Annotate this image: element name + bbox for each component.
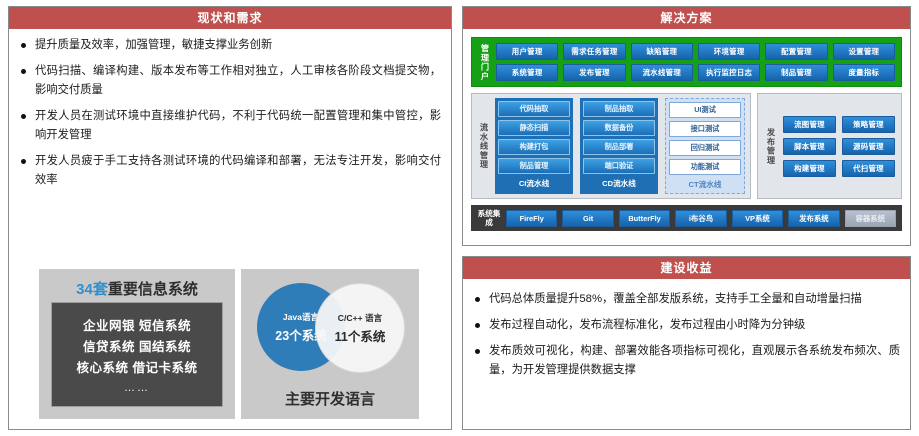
current-status-panel: 现状和需求 提升质量及效率，加强管理，敏捷支撑业务创新 代码扫描、编译构建、版本… <box>8 6 452 430</box>
current-status-title: 现状和需求 <box>9 7 451 30</box>
release-management-box: 发布管理 流图管理 策略管理 脚本管理 源码管理 构建管理 代扫管理 <box>757 93 902 199</box>
pipeline-columns: 代码抽取 静态扫描 构建打包 制品管理 CI流水线 制品抽取 数据备份 制品部署… <box>495 98 745 194</box>
solution-panel: 解决方案 管理门户 用户管理 需求任务管理 缺陷管理 环境管理 配置管理 设置管… <box>462 6 911 246</box>
solution-architecture-diagram: 管理门户 用户管理 需求任务管理 缺陷管理 环境管理 配置管理 设置管理 系统管… <box>463 30 910 238</box>
list-item: 发布质效可视化，构建、部署效能各项指标可视化，直观展示各系统发布频次、质量，为开… <box>473 342 900 380</box>
integration-chip[interactable]: VP系统 <box>732 210 783 227</box>
systems-count: 34套 <box>76 281 108 298</box>
pipeline-column-ci: 代码抽取 静态扫描 构建打包 制品管理 CI流水线 <box>495 98 573 194</box>
benefit-body: 代码总体质量提升58%，覆盖全部发版系统，支持手工全量和自动增量扫描 发布过程自… <box>463 280 910 391</box>
pipeline-column-name: CD流水线 <box>583 177 655 189</box>
venn-label-language: C/C++ 语言 <box>338 312 382 324</box>
systems-name-box: 企业网银 短信系统 信贷系统 国结系统 核心系统 借记卡系统 …… <box>51 302 223 407</box>
integration-chip[interactable]: Git <box>562 210 613 227</box>
system-integration-band: 系统集成 FireFly Git ButterFly i布谷鸟 VP系统 发布系… <box>471 205 902 231</box>
pipeline-step[interactable]: 功能测试 <box>669 159 741 175</box>
portal-chip[interactable]: 配置管理 <box>765 43 827 60</box>
pipeline-step[interactable]: 静态扫描 <box>498 120 570 136</box>
portal-chip[interactable]: 设置管理 <box>833 43 895 60</box>
release-management-grid: 流图管理 策略管理 脚本管理 源码管理 构建管理 代扫管理 <box>783 98 895 194</box>
pipeline-column-cd: 制品抽取 数据备份 制品部署 端口验证 CD流水线 <box>580 98 658 194</box>
portal-chip[interactable]: 系统管理 <box>496 64 558 81</box>
list-item: 开发人员在测试环境中直接维护代码，不利于代码统一配置管理和集中管控，影响开发管理 <box>19 107 441 145</box>
left-infographic: 34套重要信息系统 企业网银 短信系统 信贷系统 国结系统 核心系统 借记卡系统… <box>39 269 419 419</box>
pipeline-column-name: CI流水线 <box>498 177 570 189</box>
pipeline-step[interactable]: 制品管理 <box>498 158 570 174</box>
pipeline-column-ct: UI测试 接口测试 回归测试 功能测试 CT流水线 <box>665 98 745 194</box>
portal-chip[interactable]: 缺陷管理 <box>631 43 693 60</box>
pipeline-management-box: 流水线管理 代码抽取 静态扫描 构建打包 制品管理 CI流水线 制品抽取 数据备… <box>471 93 751 199</box>
pipeline-step[interactable]: UI测试 <box>669 102 741 118</box>
list-item: 发布过程自动化，发布流程标准化，发布过程由小时降为分钟级 <box>473 316 900 335</box>
integration-chip[interactable]: 发布系统 <box>788 210 839 227</box>
portal-chip[interactable]: 环境管理 <box>698 43 760 60</box>
release-chip[interactable]: 脚本管理 <box>783 138 836 155</box>
management-portal-band: 管理门户 用户管理 需求任务管理 缺陷管理 环境管理 配置管理 设置管理 系统管… <box>471 37 902 87</box>
release-chip[interactable]: 策略管理 <box>842 116 895 133</box>
pipeline-step[interactable]: 制品部署 <box>583 139 655 155</box>
dev-language-caption: 主要开发语言 <box>241 388 419 409</box>
pipeline-release-row: 流水线管理 代码抽取 静态扫描 构建打包 制品管理 CI流水线 制品抽取 数据备… <box>471 93 902 199</box>
portal-chip[interactable]: 发布管理 <box>563 64 625 81</box>
important-systems-card: 34套重要信息系统 企业网银 短信系统 信贷系统 国结系统 核心系统 借记卡系统… <box>39 269 235 419</box>
pipeline-step[interactable]: 制品抽取 <box>583 101 655 117</box>
benefit-panel: 建设收益 代码总体质量提升58%，覆盖全部发版系统，支持手工全量和自动增量扫描 … <box>462 256 911 430</box>
pipeline-step[interactable]: 回归测试 <box>669 140 741 156</box>
pipeline-management-label: 流水线管理 <box>477 98 490 194</box>
benefit-title: 建设收益 <box>463 257 910 280</box>
portal-chip[interactable]: 制品管理 <box>765 64 827 81</box>
integration-chip[interactable]: 容器系统 <box>845 210 896 227</box>
systems-row: 企业网银 短信系统 <box>83 315 191 334</box>
integration-chip[interactable]: i布谷鸟 <box>675 210 726 227</box>
pipeline-column-name: CT流水线 <box>669 178 741 190</box>
systems-row: 核心系统 借记卡系统 <box>77 357 198 376</box>
list-item: 提升质量及效率，加强管理，敏捷支撑业务创新 <box>19 36 441 55</box>
dev-language-card: Java语言 23个系统 C/C++ 语言 11个系统 主要开发语言 <box>241 269 419 419</box>
slide-canvas: 现状和需求 提升质量及效率，加强管理，敏捷支撑业务创新 代码扫描、编译构建、版本… <box>0 0 919 436</box>
venn-label-language: Java语言 <box>283 311 319 323</box>
release-chip[interactable]: 源码管理 <box>842 138 895 155</box>
benefit-bullet-list: 代码总体质量提升58%，覆盖全部发版系统，支持手工全量和自动增量扫描 发布过程自… <box>473 290 900 380</box>
management-portal-label: 管理门户 <box>478 43 491 81</box>
pipeline-step[interactable]: 接口测试 <box>669 121 741 137</box>
pipeline-step[interactable]: 端口验证 <box>583 158 655 174</box>
systems-row: 信贷系统 国结系统 <box>83 336 191 355</box>
management-portal-grid: 用户管理 需求任务管理 缺陷管理 环境管理 配置管理 设置管理 系统管理 发布管… <box>496 43 895 81</box>
portal-chip[interactable]: 流水线管理 <box>631 64 693 81</box>
current-status-bullet-list: 提升质量及效率，加强管理，敏捷支撑业务创新 代码扫描、编译构建、版本发布等工作相… <box>19 36 441 190</box>
release-chip[interactable]: 构建管理 <box>783 160 836 177</box>
portal-chip[interactable]: 度量指标 <box>833 64 895 81</box>
list-item: 开发人员疲于手工支持各测试环境的代码编译和部署，无法专注开发，影响交付效率 <box>19 152 441 190</box>
pipeline-step[interactable]: 数据备份 <box>583 120 655 136</box>
system-integration-chips: FireFly Git ButterFly i布谷鸟 VP系统 发布系统 容器系… <box>506 210 896 227</box>
system-integration-label: 系统集成 <box>477 209 501 227</box>
current-status-body: 提升质量及效率，加强管理，敏捷支撑业务创新 代码扫描、编译构建、版本发布等工作相… <box>9 30 451 201</box>
venn-label-count: 11个系统 <box>335 326 386 345</box>
pipeline-step[interactable]: 代码抽取 <box>498 101 570 117</box>
systems-ellipsis: …… <box>124 382 150 394</box>
list-item: 代码总体质量提升58%，覆盖全部发版系统，支持手工全量和自动增量扫描 <box>473 290 900 309</box>
important-systems-title: 34套重要信息系统 <box>39 278 235 299</box>
integration-chip[interactable]: ButterFly <box>619 210 670 227</box>
solution-title: 解决方案 <box>463 7 910 30</box>
systems-title-rest: 重要信息系统 <box>108 281 198 298</box>
list-item: 代码扫描、编译构建、版本发布等工作相对独立，人工审核各阶段文档提交物，影响交付质… <box>19 62 441 100</box>
release-management-label: 发布管理 <box>764 98 777 194</box>
portal-chip[interactable]: 执行监控日志 <box>698 64 760 81</box>
pipeline-step[interactable]: 构建打包 <box>498 139 570 155</box>
venn-diagram: Java语言 23个系统 C/C++ 语言 11个系统 <box>241 281 419 373</box>
portal-chip[interactable]: 用户管理 <box>496 43 558 60</box>
integration-chip[interactable]: FireFly <box>506 210 557 227</box>
venn-circle-cpp: C/C++ 语言 11个系统 <box>315 283 405 373</box>
release-chip[interactable]: 代扫管理 <box>842 160 895 177</box>
release-chip[interactable]: 流图管理 <box>783 116 836 133</box>
portal-chip[interactable]: 需求任务管理 <box>563 43 625 60</box>
